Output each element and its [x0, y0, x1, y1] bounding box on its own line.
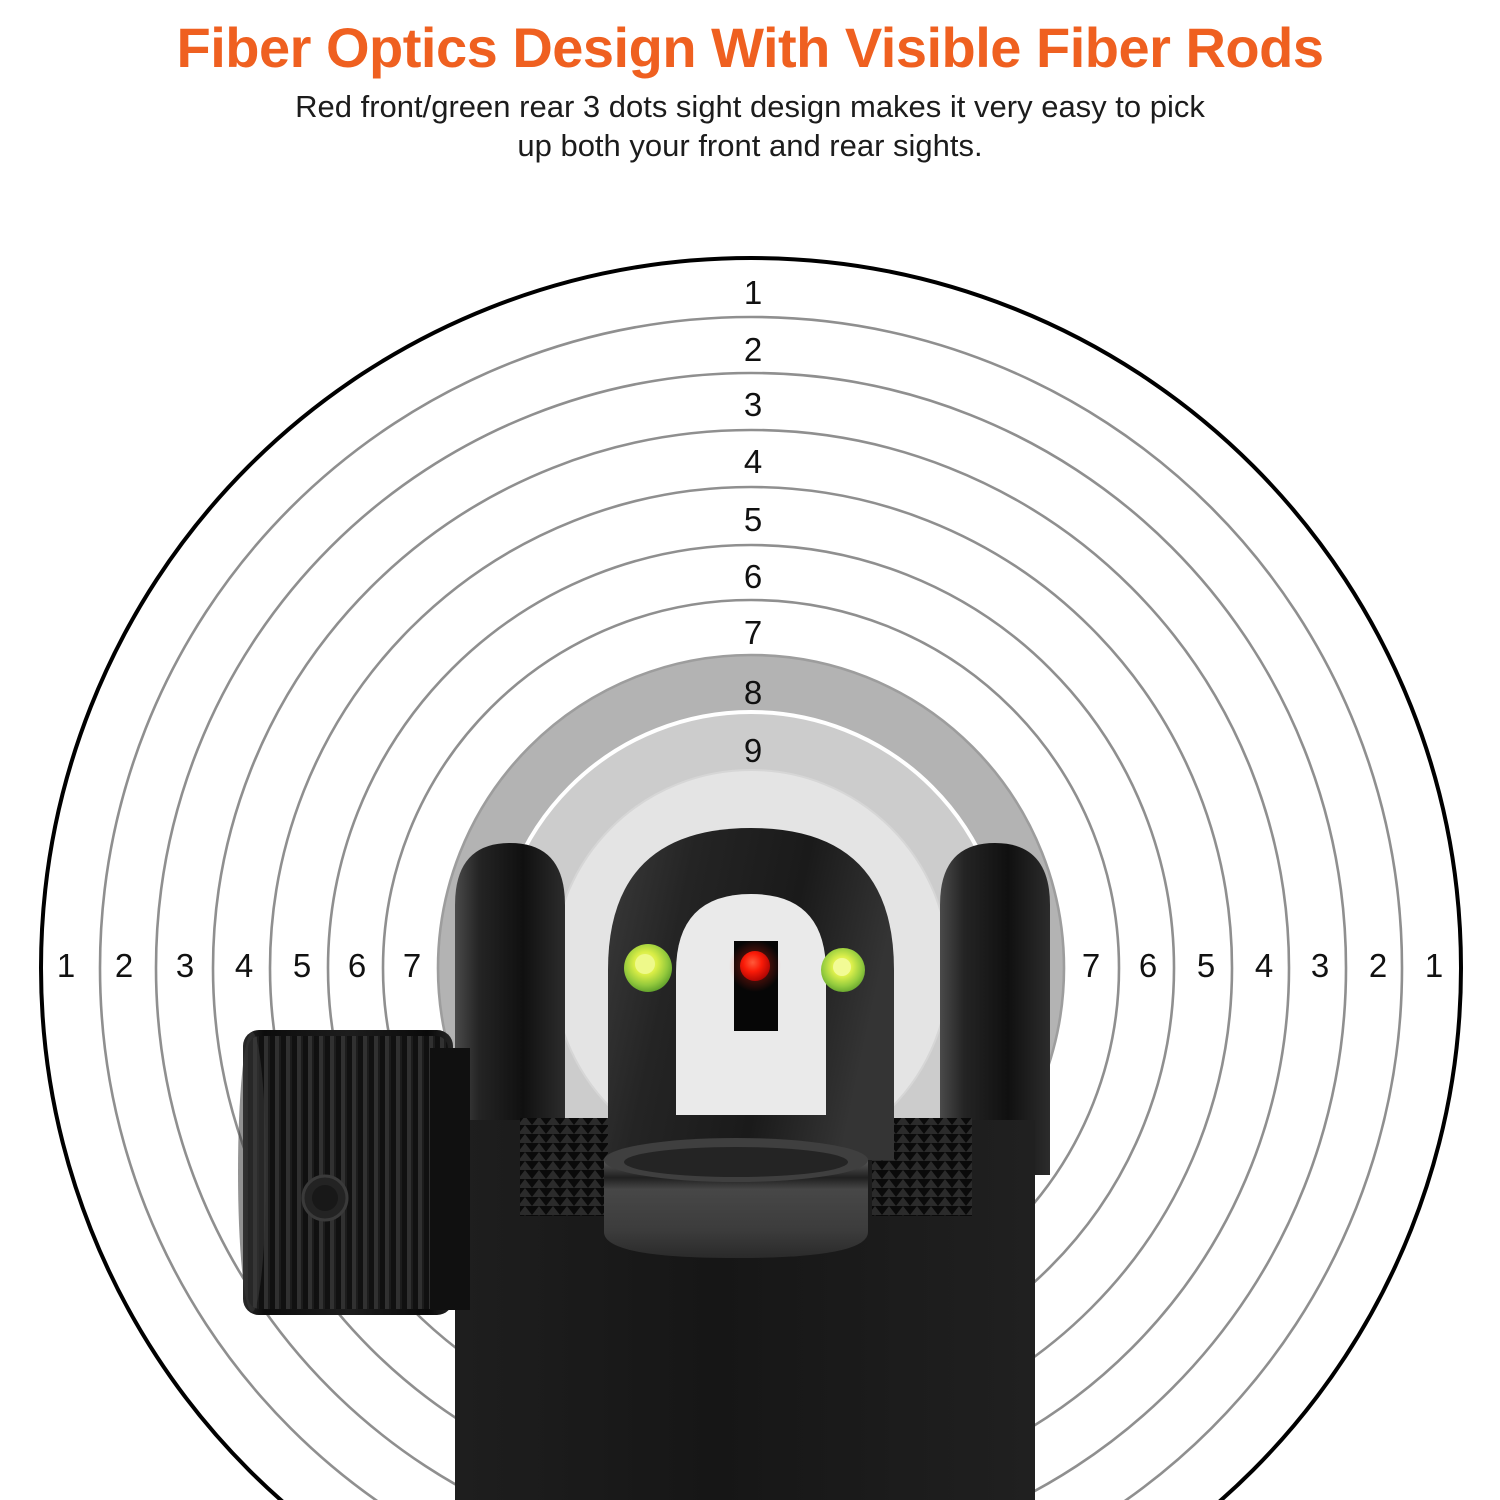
ring-labels-left: 1 2 3 4 5 6 7: [57, 947, 421, 984]
ring-label-r-1: 1: [1425, 947, 1443, 984]
target-graphic: 1 2 3 4 5 6 7 8 9 1 2 3 4 5 6 7 7 6 5 4 …: [0, 0, 1500, 1500]
ring-label-v-7: 7: [744, 614, 762, 651]
ring-label-v-8: 8: [744, 674, 762, 711]
ring-label-l-6: 6: [348, 947, 366, 984]
ring-label-l-7: 7: [403, 947, 421, 984]
zone-center-fill: [553, 770, 949, 1166]
ring-label-l-2: 2: [115, 947, 133, 984]
ring-label-r-4: 4: [1255, 947, 1273, 984]
ring-label-l-5: 5: [293, 947, 311, 984]
ring-label-r-2: 2: [1369, 947, 1387, 984]
ring-label-l-1: 1: [57, 947, 75, 984]
ring-label-v-5: 5: [744, 501, 762, 538]
ring-label-l-4: 4: [235, 947, 253, 984]
ring-label-v-9: 9: [744, 732, 762, 769]
ring-label-v-2: 2: [744, 331, 762, 368]
ring-labels-right: 7 6 5 4 3 2 1: [1082, 947, 1443, 984]
ring-label-v-3: 3: [744, 386, 762, 423]
ring-label-r-7: 7: [1082, 947, 1100, 984]
ring-label-v-6: 6: [744, 558, 762, 595]
ring-label-r-5: 5: [1197, 947, 1215, 984]
ring-label-r-6: 6: [1139, 947, 1157, 984]
ring-label-l-3: 3: [176, 947, 194, 984]
target-svg: 1 2 3 4 5 6 7 8 9 1 2 3 4 5 6 7 7 6 5 4 …: [0, 0, 1500, 1500]
ring-labels-vertical: 1 2 3 4 5 6 7 8 9: [744, 274, 762, 769]
ring-label-v-4: 4: [744, 443, 762, 480]
ring-label-v-1: 1: [744, 274, 762, 311]
ring-label-r-3: 3: [1311, 947, 1329, 984]
